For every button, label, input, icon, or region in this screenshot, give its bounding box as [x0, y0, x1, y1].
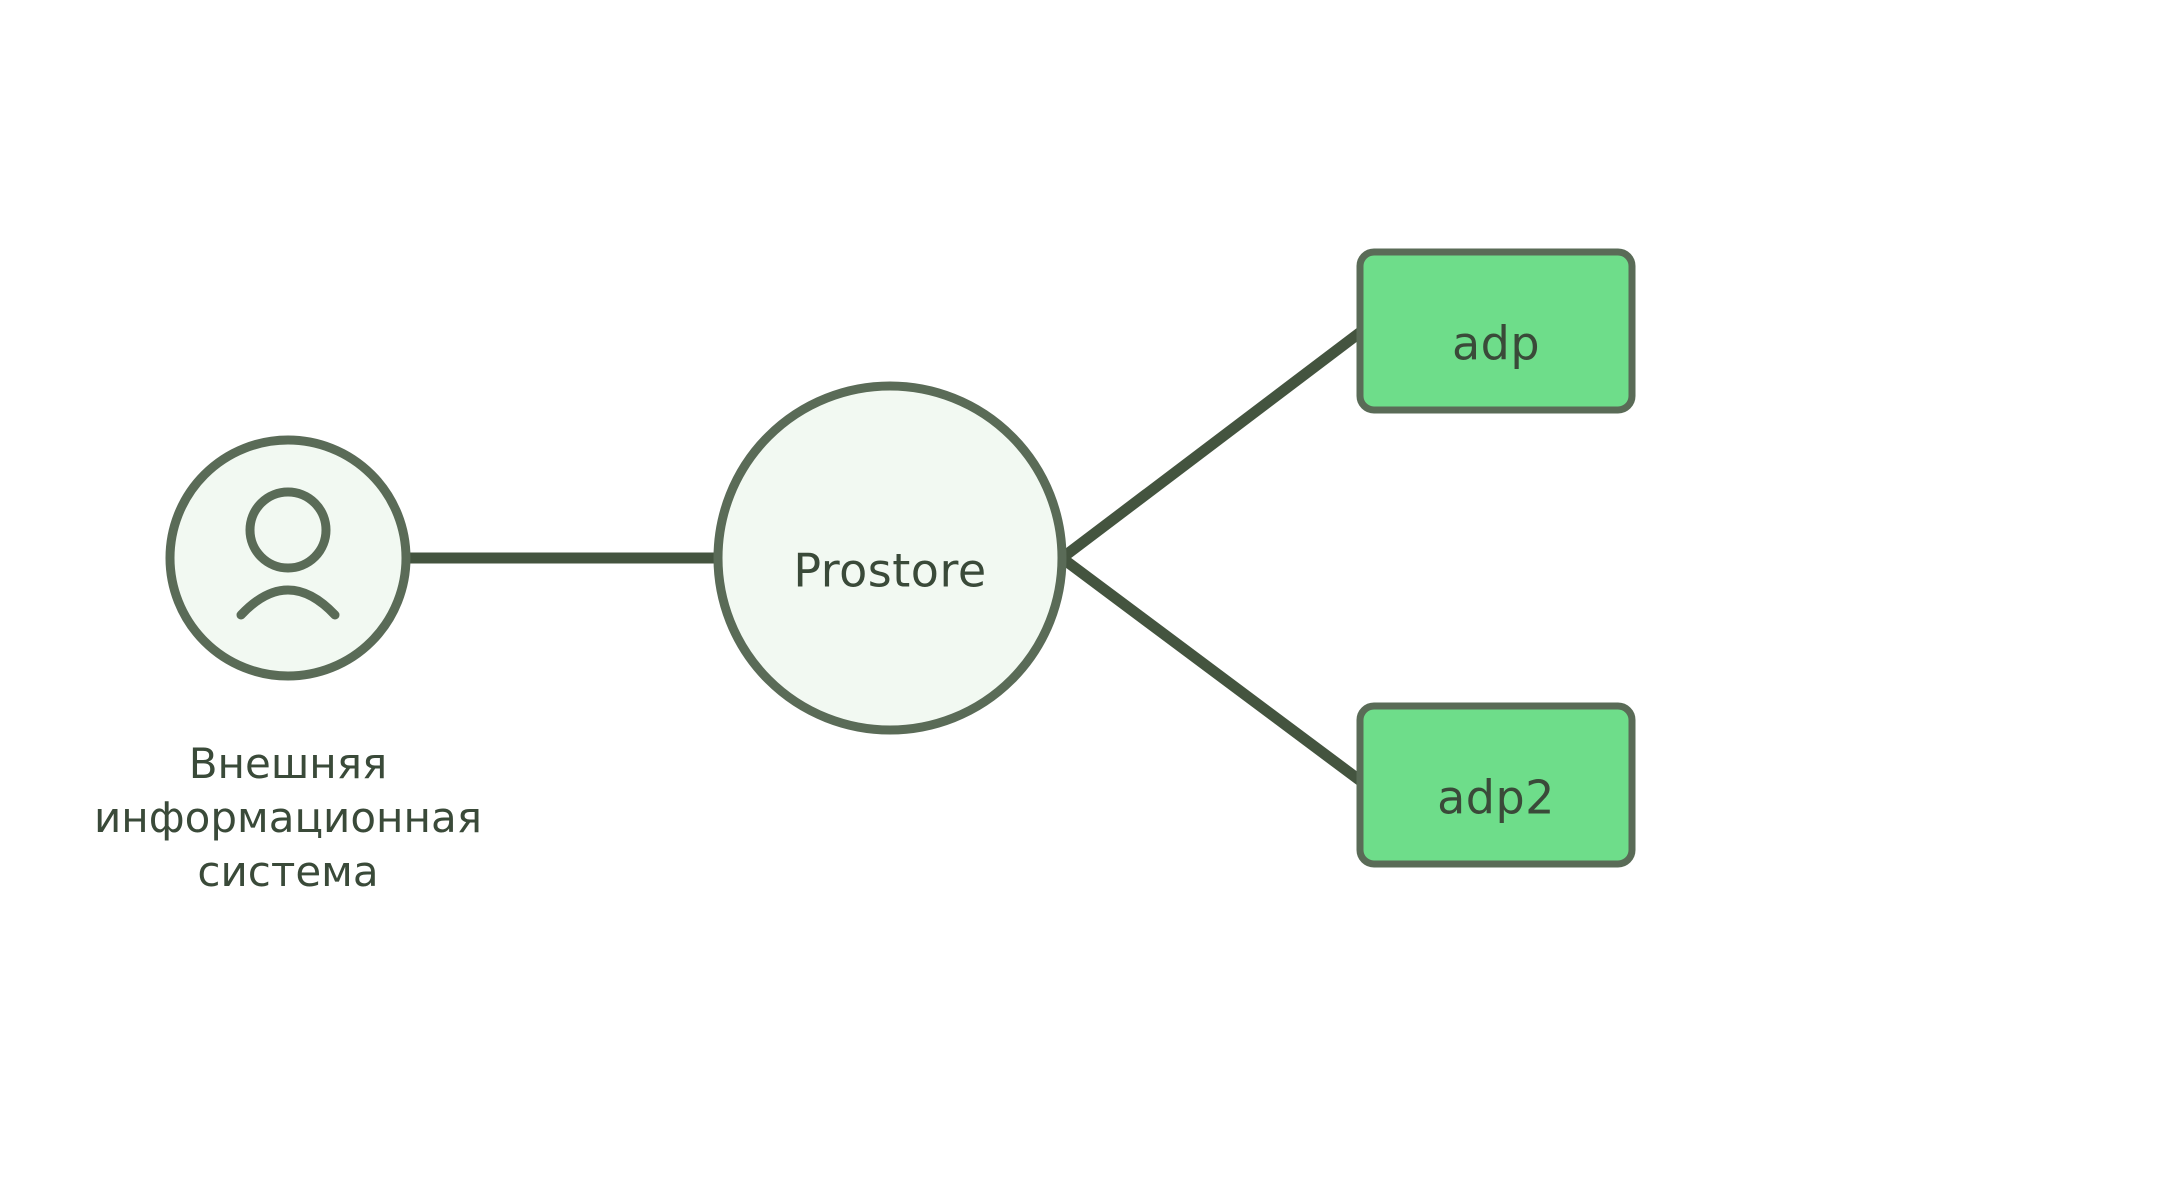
caption-line-2: информационная [94, 793, 482, 842]
architecture-diagram: Внешняя информационная система Prostore … [0, 0, 2174, 1200]
node-external-information-system[interactable] [170, 440, 406, 676]
edge-prostore-to-adp2[interactable] [1062, 558, 1362, 782]
node-adp[interactable]: adp [1360, 252, 1632, 410]
caption-line-1: Внешняя [189, 739, 388, 788]
caption-line-3: система [197, 847, 378, 896]
adp2-label: adp2 [1437, 771, 1555, 825]
adp-label: adp [1452, 317, 1540, 371]
node-prostore[interactable]: Prostore [718, 386, 1062, 730]
actor-caption: Внешняя информационная система [94, 739, 482, 896]
node-adp2[interactable]: adp2 [1360, 706, 1632, 864]
actor-circle[interactable] [170, 440, 406, 676]
diagram-canvas: Внешняя информационная система Prostore … [0, 0, 2174, 1200]
edge-prostore-to-adp[interactable] [1062, 331, 1362, 558]
prostore-label: Prostore [793, 544, 986, 598]
